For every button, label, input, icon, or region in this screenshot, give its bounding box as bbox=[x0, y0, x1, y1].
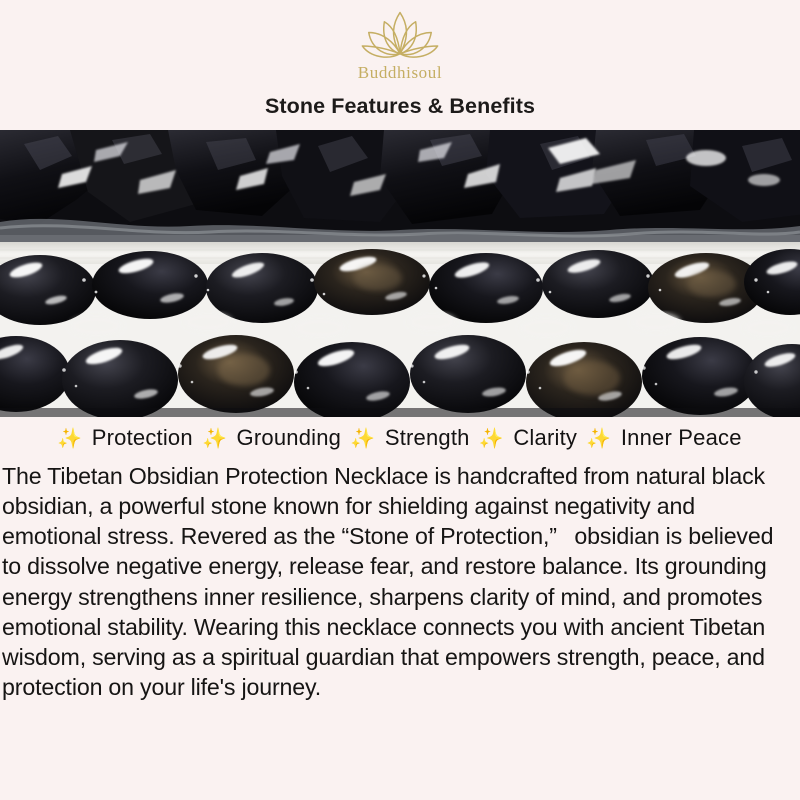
product-info-card: Buddhisoul Stone Features & Benefits bbox=[0, 0, 800, 800]
brand-header: Buddhisoul bbox=[0, 0, 800, 94]
lotus-flower-icon bbox=[357, 9, 443, 63]
benefit-strength: Strength bbox=[383, 425, 472, 450]
sparkles-icon: ✨ bbox=[478, 428, 505, 450]
sparkles-icon: ✨ bbox=[56, 428, 83, 450]
benefits-list: ✨ Protection ✨ Grounding ✨ Strength ✨ Cl… bbox=[0, 417, 800, 449]
benefit-protection: Protection bbox=[90, 425, 195, 450]
product-description: The Tibetan Obsidian Protection Necklace… bbox=[0, 449, 800, 703]
benefit-clarity: Clarity bbox=[511, 425, 579, 450]
benefit-grounding: Grounding bbox=[235, 425, 344, 450]
sparkles-icon: ✨ bbox=[201, 428, 228, 450]
page-title: Stone Features & Benefits bbox=[0, 96, 800, 118]
benefit-inner-peace: Inner Peace bbox=[619, 425, 744, 450]
sparkles-icon: ✨ bbox=[585, 428, 612, 450]
brand-name: Buddhisoul bbox=[358, 64, 442, 81]
obsidian-stones-photo bbox=[0, 130, 800, 417]
sparkles-icon: ✨ bbox=[349, 428, 376, 450]
